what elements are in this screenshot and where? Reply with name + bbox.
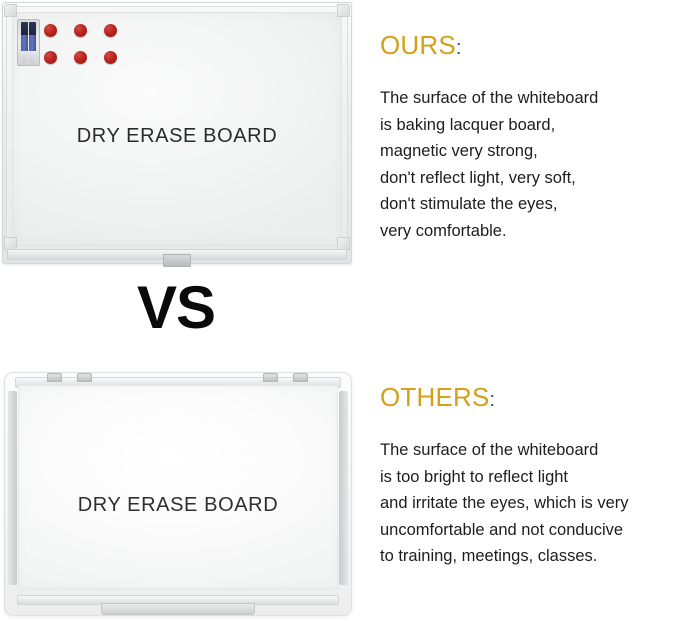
description-column: OURS: The surface of the whiteboard is b… [380, 0, 679, 621]
panel-others-line: is too bright to reflect light [380, 464, 679, 491]
panel-others-title-text: OTHERS [380, 382, 490, 412]
red-magnet [74, 24, 87, 37]
board-ours-frame: DRY ERASE BOARD [2, 2, 352, 264]
board-others-side-rail-right [339, 391, 348, 585]
panel-others: OTHERS: The surface of the whiteboard is… [380, 382, 679, 570]
board-ours-corner-top-left [4, 4, 17, 17]
dry-erase-marker-2 [29, 22, 36, 63]
whiteboard-others: DRY ERASE BOARD [4, 372, 352, 616]
board-others-mount-tab [263, 373, 278, 382]
red-magnet [74, 51, 87, 64]
panel-ours-line: don't reflect light, very soft, [380, 165, 679, 192]
marker-body [29, 35, 36, 51]
panel-ours-title-colon: : [456, 37, 462, 59]
board-others-side-rail-left [8, 391, 17, 585]
board-ours-surface: DRY ERASE BOARD [12, 12, 342, 246]
panel-ours-line: The surface of the whiteboard [380, 85, 679, 112]
board-others-frame: DRY ERASE BOARD [4, 372, 352, 616]
board-others-mount-tab [293, 373, 308, 382]
board-others-caption: DRY ERASE BOARD [19, 494, 337, 517]
marker-cap-icon [29, 22, 36, 35]
panel-others-title-colon: : [490, 389, 496, 411]
board-others-surface: DRY ERASE BOARD [18, 385, 338, 589]
panel-ours-line: magnetic very strong, [380, 138, 679, 165]
board-ours-caption: DRY ERASE BOARD [13, 125, 341, 148]
panel-others-body: The surface of the whiteboard is too bri… [380, 437, 679, 570]
red-magnet [44, 51, 57, 64]
panel-ours-title-text: OURS [380, 30, 456, 60]
board-others-mount-tab [77, 373, 92, 382]
panel-others-line: The surface of the whiteboard [380, 437, 679, 464]
panel-others-title: OTHERS: [380, 382, 679, 415]
board-others-pen-tray [101, 603, 255, 615]
comparison-infographic: DRY ERASE BOARD [0, 0, 679, 621]
panel-ours-line: is baking lacquer board, [380, 112, 679, 139]
panel-others-line: and irritate the eyes, which is very [380, 490, 679, 517]
panel-others-line: to training, meetings, classes. [380, 543, 679, 570]
versus-label: VS [0, 278, 352, 338]
panel-others-line: uncomfortable and not conducive [380, 517, 679, 544]
panel-ours-line: don't stimulate the eyes, [380, 191, 679, 218]
product-photo-column: DRY ERASE BOARD [0, 0, 362, 621]
panel-ours-title: OURS: [380, 30, 679, 63]
marker-holder [17, 19, 40, 66]
panel-ours: OURS: The surface of the whiteboard is b… [380, 30, 679, 244]
panel-ours-body: The surface of the whiteboard is baking … [380, 85, 679, 244]
board-ours-mount-clip [163, 254, 191, 267]
red-magnet [104, 51, 117, 64]
marker-cap-icon [21, 22, 28, 35]
whiteboard-ours: DRY ERASE BOARD [2, 2, 352, 264]
marker-body [21, 35, 28, 51]
dry-erase-marker-1 [21, 22, 28, 63]
red-magnet [44, 24, 57, 37]
marker-tip-icon [29, 51, 36, 63]
red-magnet [104, 24, 117, 37]
panel-ours-line: very comfortable. [380, 218, 679, 245]
board-ours-corner-top-right [337, 4, 350, 17]
board-others-mount-tab [47, 373, 62, 382]
marker-tip-icon [21, 51, 28, 63]
